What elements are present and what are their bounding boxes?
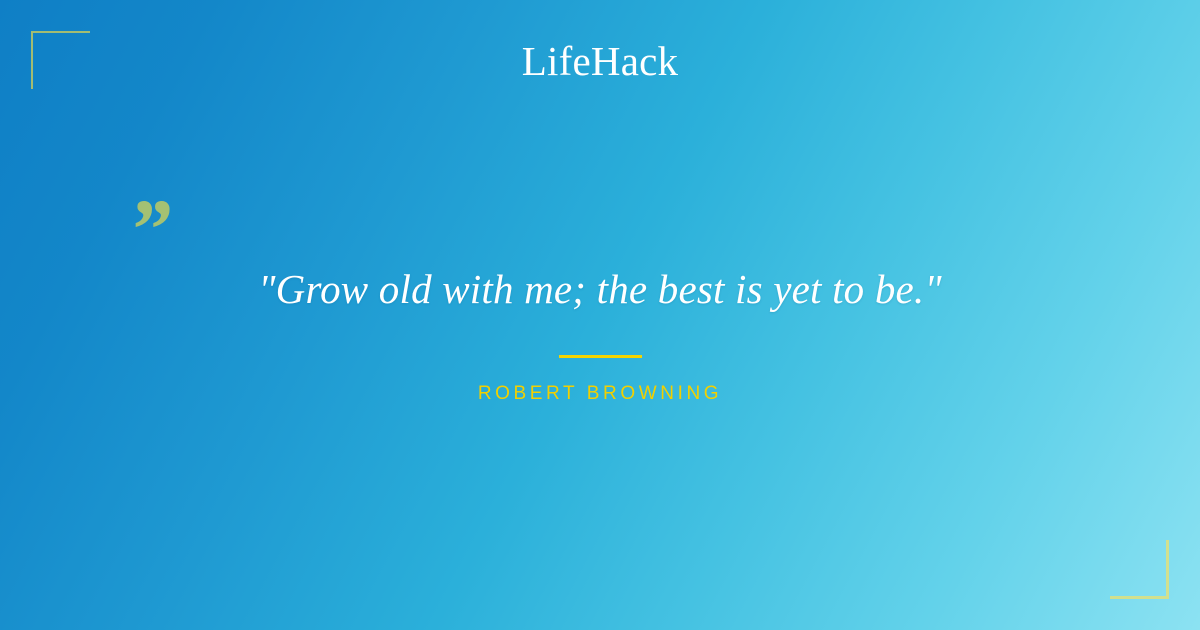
quote-author: ROBERT BROWNING xyxy=(100,382,1100,406)
quotation-mark-icon: ” xyxy=(128,186,188,256)
quote-divider xyxy=(559,355,642,358)
corner-bracket-bottom-right-icon xyxy=(1110,540,1169,599)
quote-card: LifeHack ” "Grow old with me; the best i… xyxy=(0,0,1200,630)
brand-logo: LifeHack xyxy=(0,38,1200,84)
quote-block: "Grow old with me; the best is yet to be… xyxy=(100,262,1100,406)
quote-text: "Grow old with me; the best is yet to be… xyxy=(100,262,1100,316)
